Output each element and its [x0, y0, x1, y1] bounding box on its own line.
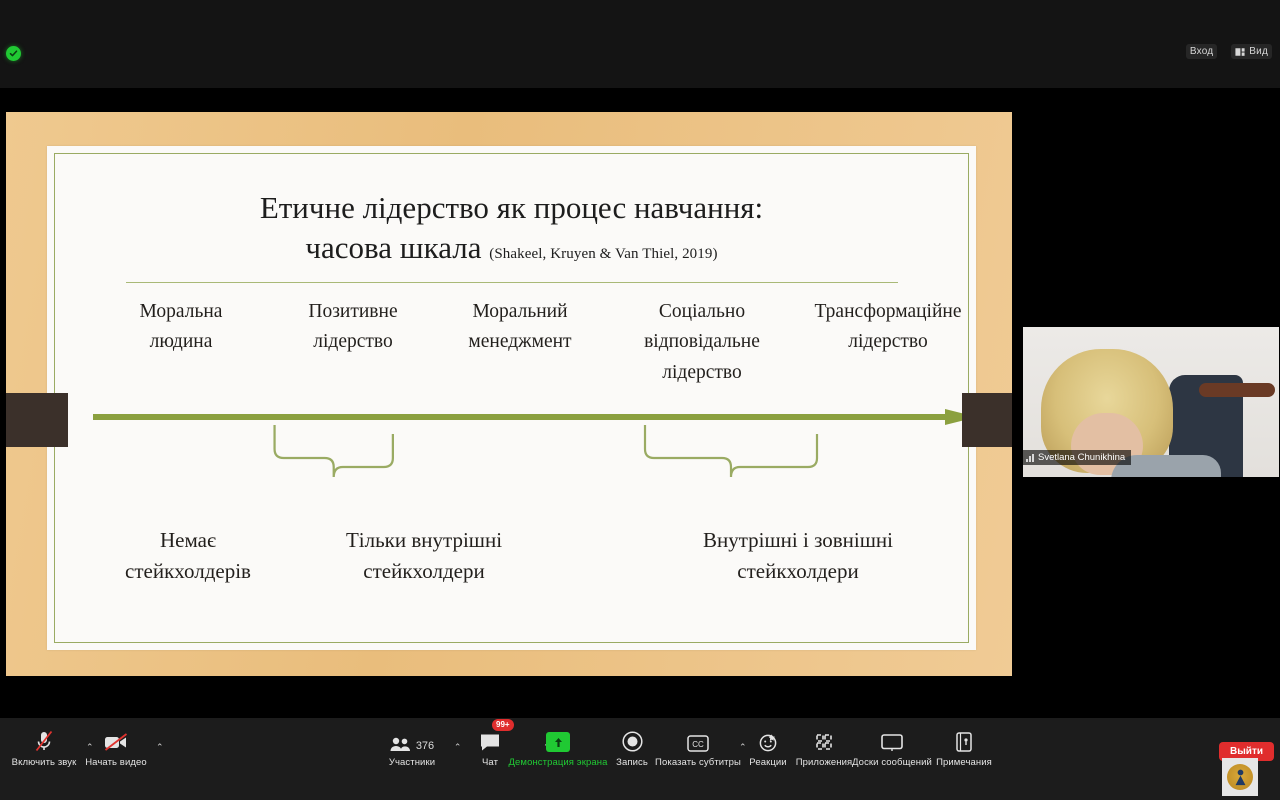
toolbar-item-participants[interactable]: 376⌃Участники: [370, 726, 454, 768]
audio-level-icon: [1026, 454, 1034, 462]
stage-label-line: Моральний: [435, 297, 605, 327]
timeline-graphics: [73, 403, 950, 523]
toolbar-item-label: Начать видео: [85, 757, 147, 768]
stage-label-line: Позитивне: [269, 297, 437, 327]
participant-name: Svetlana Chunikhina: [1038, 452, 1125, 463]
view-layout-icon: [1235, 47, 1245, 57]
stakeholder-group-label: Немаєстейкхолдерів: [93, 525, 283, 586]
timeline-stage-label: Трансформаційнелідерство: [791, 297, 985, 357]
stage-label-line: лідерство: [269, 327, 437, 357]
stakeholder-group-label: Тільки внутрішністейкхолдери: [309, 525, 539, 586]
share-screen-icon: [546, 726, 570, 752]
toolbar-item-label: Участники: [389, 757, 435, 768]
timeline-stage-label: Соціальновідповідальнелідерство: [613, 297, 791, 388]
zoom-meeting-window: Вход Вид Етичне лідерство як процес навч…: [0, 0, 1280, 800]
shared-screen-stage[interactable]: Етичне лідерство як процес навчання: час…: [0, 88, 1018, 718]
toolbar-item-share[interactable]: Демонстрация экрана: [516, 726, 600, 768]
view-label: Вид: [1249, 46, 1268, 57]
person-icon: [1233, 768, 1248, 786]
title-divider: [126, 282, 898, 284]
toolbar-item-label: Включить звук: [12, 757, 77, 768]
stakeholder-label-line: Немає: [93, 525, 283, 555]
toolbar-item-label: Приложения: [796, 757, 853, 768]
presentation-slide: Етичне лідерство як процес навчання: час…: [6, 112, 1012, 676]
login-button[interactable]: Вход: [1186, 44, 1217, 59]
timeline-stage-label: Моральнийменеджмент: [435, 297, 605, 357]
toolbar-item-label: Доски сообщений: [852, 757, 932, 768]
toolbar-item-label: Примечания: [936, 757, 992, 768]
notes-icon: [956, 726, 972, 752]
share-screen-icon: [546, 732, 570, 752]
microphone-muted-icon: ⌃: [34, 726, 54, 752]
timeline-stage-label: Позитивнелідерство: [269, 297, 437, 357]
encryption-shield-icon[interactable]: [6, 46, 21, 61]
login-label: Вход: [1190, 46, 1213, 57]
avatar: [1227, 764, 1253, 790]
chat-bubble-icon: 99+⌃: [479, 726, 501, 752]
stage-label-line: Трансформаційне: [791, 297, 985, 327]
leave-label: Выйти: [1230, 746, 1263, 757]
slide-title: Етичне лідерство як процес навчання: час…: [73, 188, 950, 269]
slide-frame-tab-left: [6, 393, 68, 447]
meeting-top-bar: Вход Вид: [0, 0, 1280, 88]
stage-label-line: лідерство: [613, 358, 791, 388]
record-icon: [622, 726, 643, 752]
timeline-stage-label: Моральналюдина: [101, 297, 261, 357]
toolbar-item-notes[interactable]: Примечания: [922, 726, 1006, 768]
stage-label-line: людина: [101, 327, 261, 357]
stage-label-line: лідерство: [791, 327, 985, 357]
toolbar-item-label: Чат: [482, 757, 498, 768]
slide-frame-tab-right: [962, 393, 1012, 447]
closed-captions-icon: CC⌃: [687, 726, 709, 752]
slide-title-line1: Етичне лідерство як процес навчання:: [73, 188, 950, 228]
stakeholder-group-label: Внутрішні і зовнішністейкхолдери: [663, 525, 933, 586]
top-bar-actions: Вход Вид: [1186, 44, 1272, 59]
stakeholder-group-labels: НемаєстейкхолдерівТільки внутрішністейкх…: [73, 525, 950, 605]
toolbar-item-label: Запись: [616, 757, 648, 768]
slide-citation: (Shakeel, Kruyen & Van Thiel, 2019): [489, 246, 717, 262]
participant-video-thumbnail[interactable]: Svetlana Chunikhina: [1022, 326, 1280, 478]
chat-unread-badge: 99+: [492, 719, 514, 731]
stakeholder-label-line: стейкхолдери: [309, 556, 539, 586]
stage-label-line: менеджмент: [435, 327, 605, 357]
stage-label-line: Соціально: [613, 297, 791, 327]
stakeholder-label-line: Тільки внутрішні: [309, 525, 539, 555]
chevron-up-icon[interactable]: ⌃: [156, 742, 164, 753]
stage-label-line: Моральна: [101, 297, 261, 327]
timeline-braces-icon: [93, 423, 977, 491]
toolbar-item-video[interactable]: ⌃Начать видео: [74, 726, 158, 768]
participants-icon: 376⌃: [390, 726, 434, 752]
participant-name-badge: Svetlana Chunikhina: [1023, 450, 1131, 465]
reactions-icon: [758, 726, 778, 752]
view-button[interactable]: Вид: [1231, 44, 1272, 59]
slide-paper: Етичне лідерство як процес навчання: час…: [47, 146, 976, 650]
stakeholder-label-line: стейкхолдерів: [93, 556, 283, 586]
user-avatar-overlay[interactable]: [1222, 758, 1258, 796]
meeting-toolbar: ⌃Включить звук⌃Начать видео376⌃Участники…: [0, 718, 1280, 800]
timeline-stage-labels: МоральналюдинаПозитивнелідерствоМоральни…: [73, 297, 950, 401]
stakeholder-label-line: стейкхолдери: [663, 556, 933, 586]
slide-title-line2: часова шкала: [305, 230, 481, 265]
camera-muted-icon: ⌃: [104, 726, 128, 752]
whiteboard-icon: [881, 726, 903, 752]
apps-icon: [814, 726, 834, 752]
stakeholder-label-line: Внутрішні і зовнішні: [663, 525, 933, 555]
svg-text:CC: CC: [692, 740, 704, 749]
stage-label-line: відповідальне: [613, 327, 791, 357]
slide-content: Етичне лідерство як процес навчання: час…: [47, 146, 976, 650]
participant-count: 376: [416, 740, 434, 752]
